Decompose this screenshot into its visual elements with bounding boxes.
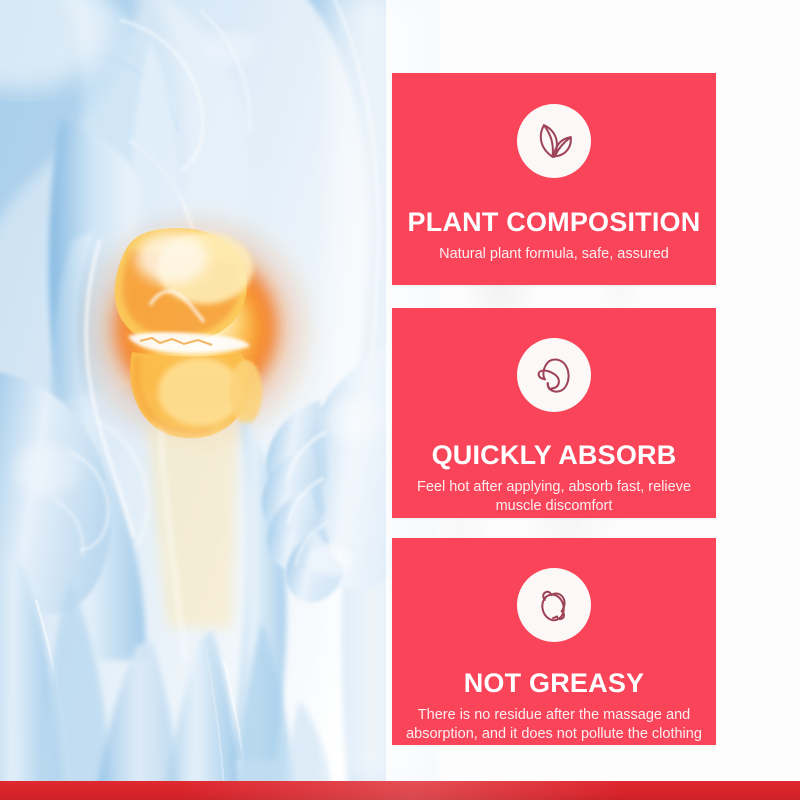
feature-card-quickly-absorb[interactable]: QUICKLY ABSORB Feel hot after applying, … (392, 308, 716, 518)
knee-anatomy-illustration (0, 0, 440, 782)
feature-card-title: PLANT COMPOSITION (392, 207, 716, 238)
leaf-icon (517, 104, 591, 178)
feature-card-plant-composition[interactable]: PLANT COMPOSITION Natural plant formula,… (392, 73, 716, 285)
footer-bar (0, 781, 800, 800)
flexed-bicep-icon (517, 338, 591, 412)
feature-card-subtitle: There is no residue after the massage an… (398, 706, 710, 743)
feature-card-subtitle: Natural plant formula, safe, assured (398, 245, 710, 264)
feature-card-subtitle: Feel hot after applying, absorb fast, re… (398, 478, 710, 515)
feature-card-list: PLANT COMPOSITION Natural plant formula,… (392, 0, 716, 782)
feature-card-title: NOT GREASY (392, 668, 716, 699)
promo-poster: PLANT COMPOSITION Natural plant formula,… (0, 0, 800, 800)
feature-card-title: QUICKLY ABSORB (392, 440, 716, 471)
footer-bar-sheen (180, 781, 700, 800)
feature-card-not-greasy[interactable]: NOT GREASY There is no residue after the… (392, 538, 716, 745)
oil-free-swirl-icon (517, 568, 591, 642)
